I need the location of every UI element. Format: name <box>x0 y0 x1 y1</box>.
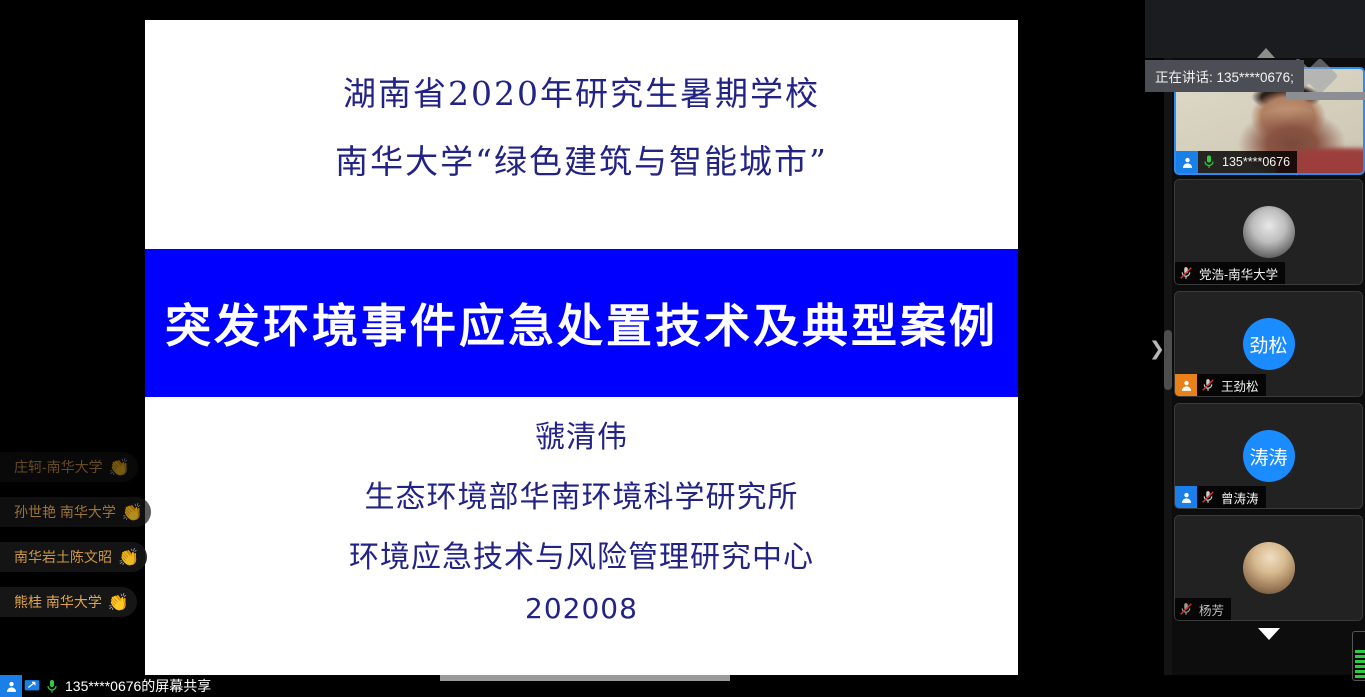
presentation-slide: 湖南省2020年研究生暑期学校 南华大学“绿色建筑与智能城市” 突发环境事件应急… <box>145 20 1018 675</box>
participant-name: 曾涛涛 <box>1219 488 1266 507</box>
presenter-center: 环境应急技术与风险管理研究中心 <box>349 532 814 576</box>
clap-icon: 👏 <box>122 504 143 521</box>
reaction-item: 熊桂 南华大学 👏 <box>0 587 137 617</box>
reaction-item: 南华岩土陈文昭 👏 <box>0 542 147 572</box>
screen-share-area: 湖南省2020年研究生暑期学校 南华大学“绿色建筑与智能城市” 突发环境事件应急… <box>0 0 1172 675</box>
participant-tile[interactable]: 劲松 王劲松 <box>1174 291 1363 397</box>
slide-header-line-2: 南华大学“绿色建筑与智能城市” <box>335 135 828 183</box>
presenter-name: 虢清伟 <box>535 412 628 456</box>
status-bar-text: 135****0676的屏幕共享 <box>65 676 211 696</box>
meeting-screen: 湖南省2020年研究生暑期学校 南华大学“绿色建筑与智能城市” 突发环境事件应急… <box>0 0 1365 697</box>
slide-body: 虢清伟 生态环境部华南环境科学研究所 环境应急技术与风险管理研究中心 20200… <box>145 412 1018 625</box>
reaction-item: 庄轲-南华大学 👏 <box>0 452 138 482</box>
avatar: 劲松 <box>1243 318 1295 370</box>
panel-top-strip <box>1145 0 1365 58</box>
chevron-right-icon[interactable]: ❯ <box>1146 336 1168 362</box>
clap-icon: 👏 <box>109 459 130 476</box>
person-icon[interactable] <box>0 675 22 697</box>
slide-header-line-1: 湖南省2020年研究生暑期学校 <box>343 67 820 115</box>
slide-title-band: 突发环境事件应急处置技术及典型案例 <box>145 249 1018 397</box>
participant-namebar: 135****0676 <box>1176 151 1297 173</box>
reaction-name: 南华岩土陈文昭 <box>14 547 112 567</box>
participant-name: 党浩-南华大学 <box>1197 264 1285 283</box>
reaction-name: 庄轲-南华大学 <box>14 457 103 477</box>
microphone-muted-icon <box>1175 598 1197 620</box>
person-icon <box>1175 374 1197 396</box>
participant-tile[interactable]: 杨芳 <box>1174 515 1363 621</box>
screen-share-icon[interactable] <box>22 675 42 697</box>
panel-top-strip-light <box>1286 92 1365 100</box>
participant-namebar: 党浩-南华大学 <box>1175 262 1285 284</box>
participant-name: 杨芳 <box>1197 600 1231 619</box>
person-icon <box>1176 151 1198 173</box>
microphone-muted-icon <box>1197 374 1219 396</box>
participants-scroll-down-button[interactable] <box>1172 622 1365 646</box>
microphone-icon <box>1198 151 1220 173</box>
avatar <box>1243 206 1295 258</box>
participants-panel: 135****0676 党浩-南华大学 劲松 <box>1172 0 1365 675</box>
triangle-down-icon <box>1258 628 1280 640</box>
status-bar-highlight <box>440 675 730 681</box>
participant-namebar: 杨芳 <box>1175 598 1231 620</box>
reaction-name: 孙世艳 南华大学 <box>14 502 116 522</box>
slide-header: 湖南省2020年研究生暑期学校 南华大学“绿色建筑与智能城市” <box>145 20 1018 229</box>
tooltip-arrow-icon <box>1257 48 1275 58</box>
slide-date: 202008 <box>525 592 638 625</box>
participant-namebar: 王劲松 <box>1175 374 1266 396</box>
participant-name: 135****0676 <box>1220 155 1297 169</box>
participant-tile[interactable]: 涛涛 曾涛涛 <box>1174 403 1363 509</box>
volume-meter <box>1352 631 1365 681</box>
slide-title: 突发环境事件应急处置技术及典型案例 <box>165 290 998 356</box>
reaction-item: 孙世艳 南华大学 👏 <box>0 497 151 527</box>
presenter-institute: 生态环境部华南环境科学研究所 <box>365 472 799 516</box>
participant-tiles: 135****0676 党浩-南华大学 劲松 <box>1173 67 1364 620</box>
speaking-tooltip-text: 正在讲话: 135****0676; <box>1155 66 1294 86</box>
participant-tile[interactable]: 党浩-南华大学 <box>1174 179 1363 285</box>
clap-icon: 👏 <box>108 594 129 611</box>
participant-namebar: 曾涛涛 <box>1175 486 1266 508</box>
person-icon <box>1175 486 1197 508</box>
microphone-muted-icon <box>1175 262 1197 284</box>
speaking-tooltip: 正在讲话: 135****0676; <box>1145 60 1304 92</box>
microphone-muted-icon <box>1197 486 1219 508</box>
reaction-list: 庄轲-南华大学 👏 孙世艳 南华大学 👏 南华岩土陈文昭 👏 熊桂 南华大学 👏 <box>0 452 160 617</box>
microphone-icon[interactable] <box>42 675 62 697</box>
avatar: 涛涛 <box>1243 430 1295 482</box>
clap-icon: 👏 <box>118 549 139 566</box>
participant-name: 王劲松 <box>1219 376 1266 395</box>
reaction-name: 熊桂 南华大学 <box>14 592 102 612</box>
avatar <box>1243 542 1295 594</box>
